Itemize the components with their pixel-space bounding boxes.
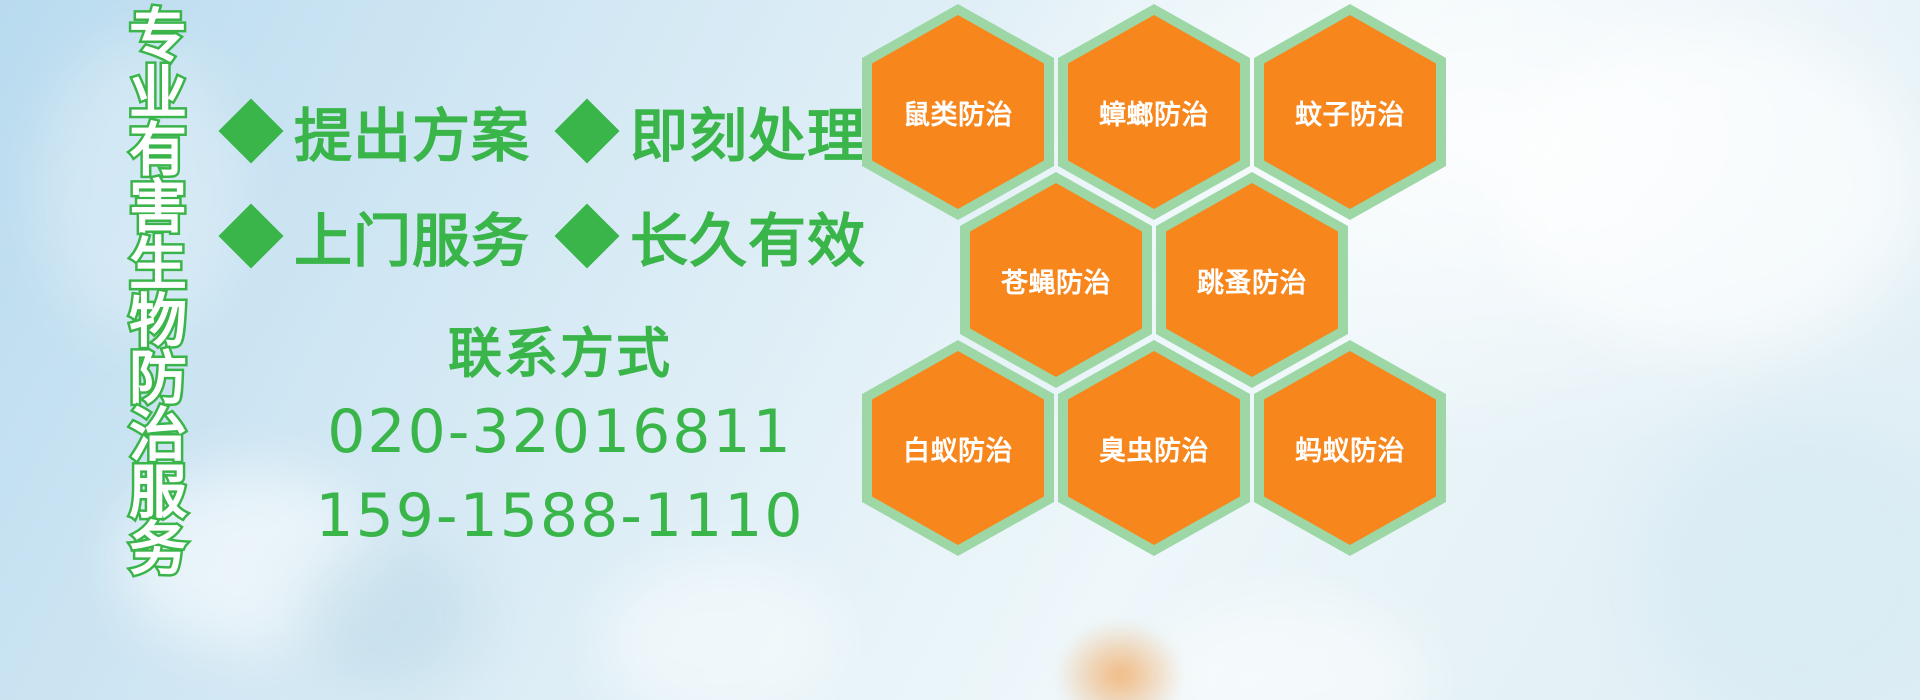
feature-label: 长久有效 <box>630 194 866 278</box>
service-hexagon-label: 蚊子防治 <box>1295 93 1405 132</box>
feature-row: 上门服务 长久有效 <box>228 183 858 288</box>
orange-glow-accent <box>1055 620 1185 700</box>
contact-phone-mobile[interactable]: 159-1588-1110 <box>300 474 820 558</box>
service-hexagon[interactable]: 苍蝇防治 <box>960 172 1152 388</box>
service-hexagon-grid: 鼠类防治 蟑螂防治 蚊子防治 苍蝇防治 跳蚤防治 白蚁防治 <box>862 0 1462 554</box>
vertical-headline-char: 物 <box>129 293 187 350</box>
feature-item: 提出方案 <box>228 89 530 173</box>
service-hexagon[interactable]: 臭虫防治 <box>1058 340 1250 556</box>
vertical-headline-char: 防 <box>129 350 187 407</box>
background-blob <box>1150 600 1430 700</box>
service-hexagon-label: 蟑螂防治 <box>1099 93 1209 132</box>
vertical-headline: 专 业 有 害 生 物 防 治 服 务 <box>108 8 208 568</box>
contact-phone-landline[interactable]: 020-32016811 <box>300 390 820 474</box>
feature-label: 即刻处理 <box>630 89 866 173</box>
vertical-headline-char: 服 <box>129 464 187 521</box>
vertical-headline-char: 治 <box>129 407 187 464</box>
feature-row: 提出方案 即刻处理 <box>228 78 858 183</box>
diamond-bullet-icon <box>218 203 283 268</box>
service-hexagon[interactable]: 鼠类防治 <box>862 4 1054 220</box>
service-hexagon-inner: 蚊子防治 <box>1264 15 1436 209</box>
feature-label: 上门服务 <box>294 194 530 278</box>
service-hexagon[interactable]: 白蚁防治 <box>862 340 1054 556</box>
diamond-bullet-icon <box>218 98 283 163</box>
contact-block: 联系方式 020-32016811 159-1588-1110 <box>300 318 820 558</box>
service-hexagon-inner: 苍蝇防治 <box>970 183 1142 377</box>
service-hexagon-inner: 白蚁防治 <box>872 351 1044 545</box>
background-blob <box>300 540 480 690</box>
feature-item: 即刻处理 <box>564 89 866 173</box>
feature-label: 提出方案 <box>294 89 530 173</box>
vertical-headline-char: 业 <box>129 65 187 122</box>
vertical-headline-char: 害 <box>129 179 187 236</box>
vertical-headline-char: 务 <box>129 521 187 578</box>
background-blob <box>600 560 840 700</box>
service-hexagon-label: 蚂蚁防治 <box>1295 429 1405 468</box>
service-hexagon[interactable]: 蟑螂防治 <box>1058 4 1250 220</box>
service-hexagon-label: 跳蚤防治 <box>1197 261 1307 300</box>
vertical-headline-char: 专 <box>129 8 187 65</box>
service-hexagon-inner: 臭虫防治 <box>1068 351 1240 545</box>
feature-item: 长久有效 <box>564 194 866 278</box>
vertical-headline-char: 生 <box>129 236 187 293</box>
service-hexagon-inner: 蚂蚁防治 <box>1264 351 1436 545</box>
service-hexagon[interactable]: 蚊子防治 <box>1254 4 1446 220</box>
diamond-bullet-icon <box>554 98 619 163</box>
service-hexagon[interactable]: 跳蚤防治 <box>1156 172 1348 388</box>
feature-list: 提出方案 即刻处理 上门服务 长久有效 <box>228 78 858 288</box>
service-hexagon-inner: 跳蚤防治 <box>1166 183 1338 377</box>
promo-banner: 专 业 有 害 生 物 防 治 服 务 提出方案 即刻处理 上门服务 <box>0 0 1920 700</box>
background-blob <box>1640 420 1920 700</box>
feature-item: 上门服务 <box>228 194 530 278</box>
diamond-bullet-icon <box>554 203 619 268</box>
service-hexagon-label: 臭虫防治 <box>1099 429 1209 468</box>
service-hexagon-label: 苍蝇防治 <box>1001 261 1111 300</box>
service-hexagon[interactable]: 蚂蚁防治 <box>1254 340 1446 556</box>
background-blob <box>1500 30 1920 350</box>
vertical-headline-char: 有 <box>129 122 187 179</box>
service-hexagon-label: 白蚁防治 <box>903 429 1013 468</box>
service-hexagon-inner: 鼠类防治 <box>872 15 1044 209</box>
service-hexagon-label: 鼠类防治 <box>903 93 1013 132</box>
service-hexagon-inner: 蟑螂防治 <box>1068 15 1240 209</box>
contact-title: 联系方式 <box>300 318 820 390</box>
